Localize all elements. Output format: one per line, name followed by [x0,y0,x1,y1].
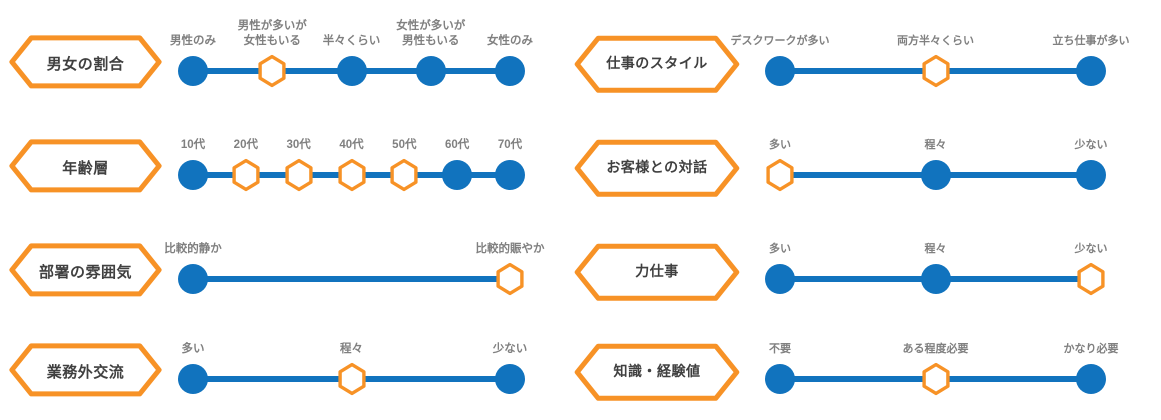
tick-label: 30代 [287,138,311,153]
marker-selected[interactable] [335,362,369,396]
marker-unselected[interactable] [335,54,369,88]
tick-label: 半々くらい [323,34,381,49]
selected-hexagon-marker[interactable] [255,54,289,88]
scale-markers: 10代20代30代40代50代60代70代 [163,112,540,216]
tick-label-line: 男性のみ [170,34,216,49]
tick-label-line: 少ない [493,342,528,357]
marker-unselected[interactable] [1074,54,1108,88]
tick-label: 20代 [234,138,258,153]
tick-label-line: 女性のみ [487,34,533,49]
marker-selected[interactable] [255,54,289,88]
category-label-3[interactable]: 業務外交流 [8,342,163,400]
category-label-text: 年齢層 [62,157,109,178]
scale-row: 業務外交流多い程々少ない [0,316,560,420]
scale-markers: 男性のみ男性が多いが女性もいる半々くらい女性が多いが男性もいる女性のみ [163,8,540,112]
dot-marker[interactable] [178,56,208,86]
category-label-text: 男女の割合 [47,53,125,74]
marker-unselected[interactable] [176,158,210,192]
tick-label: 50代 [392,138,416,153]
tick-label: 程々 [340,342,363,357]
dot-marker[interactable] [495,364,525,394]
tick-label: 多い [769,242,791,257]
tick-label-line: 少ない [1075,138,1108,153]
dot-marker[interactable] [765,56,795,86]
marker-selected[interactable] [1074,262,1108,296]
tick-label: 少ない [493,342,528,357]
tick-label: 程々 [925,242,947,257]
selected-hexagon-marker[interactable] [763,158,797,192]
marker-selected[interactable] [763,158,797,192]
tick-label-line: 70代 [498,138,522,153]
marker-unselected[interactable] [1074,362,1108,396]
tick-label: デスクワークが多い [731,34,830,49]
selected-hexagon-marker[interactable] [919,362,953,396]
tick-label: 程々 [925,138,947,153]
selected-hexagon-marker[interactable] [919,54,953,88]
tick-label: 不要 [769,342,791,357]
dot-marker[interactable] [1076,364,1106,394]
category-label-6[interactable]: 力仕事 [573,242,741,300]
scale-markers: 多い程々少ない [750,216,1121,320]
tick-label: ある程度必要 [903,342,969,357]
selected-hexagon-marker[interactable] [229,158,263,192]
scale-markers: 比較的静か比較的賑やか [163,216,540,320]
dot-marker[interactable] [337,56,367,86]
tick-label-line: 比較的賑やか [476,242,545,257]
scale-row: 力仕事多い程々少ない [560,216,1161,320]
tick-label: 70代 [498,138,522,153]
tick-label: 多い [769,138,791,153]
tick-label: 多い [182,342,205,357]
dot-marker[interactable] [921,264,951,294]
tick-label-line: 多い [182,342,205,357]
tick-label-line: 10代 [181,138,205,153]
marker-unselected[interactable] [414,54,448,88]
tick-label-line: 程々 [340,342,363,357]
scale-track: 男性のみ男性が多いが女性もいる半々くらい女性が多いが男性もいる女性のみ [163,8,540,112]
marker-unselected[interactable] [493,158,527,192]
marker-selected[interactable] [493,262,527,296]
scale-row: 男女の割合男性のみ男性が多いが女性もいる半々くらい女性が多いが男性もいる女性のみ [0,8,560,112]
selected-hexagon-marker[interactable] [387,158,421,192]
scale-track: 多い程々少ない [163,316,540,420]
marker-unselected[interactable] [763,54,797,88]
scale-row: 仕事のスタイルデスクワークが多い両方半々くらい立ち仕事が多い [560,8,1161,112]
category-label-5[interactable]: お客様との対話 [573,138,741,196]
scale-markers: 不要ある程度必要かなり必要 [750,316,1121,420]
dot-marker[interactable] [416,56,446,86]
tick-label-line: 少ない [1075,242,1108,257]
scale-row: 年齢層10代20代30代40代50代60代70代 [0,112,560,216]
dot-marker[interactable] [178,264,208,294]
tick-label: 10代 [181,138,205,153]
marker-unselected[interactable] [919,158,953,192]
tick-label-line: 女性もいる [238,34,307,49]
tick-label: 男性が多いが女性もいる [238,19,307,49]
marker-unselected[interactable] [176,262,210,296]
tick-label-line: デスクワークが多い [731,34,830,49]
marker-unselected[interactable] [1074,158,1108,192]
category-label-7[interactable]: 知識・経験値 [573,342,741,400]
scale-row: 知識・経験値不要ある程度必要かなり必要 [560,316,1161,420]
marker-unselected[interactable] [763,262,797,296]
marker-unselected[interactable] [493,54,527,88]
dot-marker[interactable] [442,160,472,190]
scale-track: 不要ある程度必要かなり必要 [750,316,1121,420]
scale-track: 比較的静か比較的賑やか [163,216,540,320]
tick-label: 少ない [1075,242,1108,257]
category-label-text: 仕事のスタイル [606,53,708,73]
tick-label-line: 程々 [925,242,947,257]
tick-label-line: 20代 [234,138,258,153]
selected-hexagon-marker[interactable] [493,262,527,296]
tick-label-line: 不要 [769,342,791,357]
tick-label: 女性のみ [487,34,533,49]
tick-label-line: 60代 [445,138,469,153]
marker-unselected[interactable] [176,54,210,88]
dot-marker[interactable] [765,264,795,294]
tick-label-line: 比較的静か [164,242,222,257]
marker-unselected[interactable] [763,362,797,396]
tick-label-line: 両方半々くらい [897,34,974,49]
category-label-2[interactable]: 部署の雰囲気 [8,242,163,300]
scale-markers: 多い程々少ない [750,112,1121,216]
tick-label-line: 30代 [287,138,311,153]
scale-track: 多い程々少ない [750,216,1121,320]
category-label-text: 部署の雰囲気 [39,261,132,282]
tick-label-line: 多い [769,242,791,257]
tick-label: 女性が多いが男性もいる [396,19,465,49]
selected-hexagon-marker[interactable] [282,158,316,192]
marker-unselected[interactable] [176,362,210,396]
marker-unselected[interactable] [493,362,527,396]
tick-label-line: 男性もいる [396,34,465,49]
marker-unselected[interactable] [919,262,953,296]
tick-label-line: 女性が多いが [396,19,465,34]
tick-label-line: かなり必要 [1064,342,1119,357]
tick-label-line: ある程度必要 [903,342,969,357]
category-label-4[interactable]: 仕事のスタイル [573,34,741,92]
tick-label-line: 40代 [339,138,363,153]
category-label-text: お客様との対話 [606,157,707,177]
selected-hexagon-marker[interactable] [1074,262,1108,296]
tick-label-line: 半々くらい [323,34,381,49]
dot-marker[interactable] [765,364,795,394]
marker-selected[interactable] [387,158,421,192]
scale-markers: デスクワークが多い両方半々くらい立ち仕事が多い [750,8,1121,112]
selected-hexagon-marker[interactable] [335,158,369,192]
tick-label: 40代 [339,138,363,153]
tick-label: 比較的賑やか [476,242,545,257]
dot-marker[interactable] [1076,56,1106,86]
tick-label-line: 立ち仕事が多い [1053,34,1130,49]
tick-label: 少ない [1075,138,1108,153]
tick-label-line: 程々 [925,138,947,153]
selected-hexagon-marker[interactable] [335,362,369,396]
scale-track: デスクワークが多い両方半々くらい立ち仕事が多い [750,8,1121,112]
tick-label-line: 男性が多いが [238,19,307,34]
category-label-text: 力仕事 [635,261,679,281]
marker-selected[interactable] [919,362,953,396]
scale-track: 10代20代30代40代50代60代70代 [163,112,540,216]
tick-label: 男性のみ [170,34,216,49]
dot-marker[interactable] [178,364,208,394]
category-label-0[interactable]: 男女の割合 [8,34,163,92]
marker-selected[interactable] [919,54,953,88]
category-label-text: 業務外交流 [47,361,125,382]
tick-label: 立ち仕事が多い [1053,34,1130,49]
dot-marker[interactable] [1076,160,1106,190]
marker-selected[interactable] [282,158,316,192]
category-label-text: 知識・経験値 [614,361,701,381]
tick-label: 比較的静か [164,242,222,257]
tick-label: 60代 [445,138,469,153]
tick-label-line: 多い [769,138,791,153]
tick-label: 両方半々くらい [897,34,974,49]
tick-label: かなり必要 [1064,342,1119,357]
tick-label-line: 50代 [392,138,416,153]
dot-marker[interactable] [495,160,525,190]
scale-markers: 多い程々少ない [163,316,540,420]
dot-marker[interactable] [495,56,525,86]
dot-marker[interactable] [921,160,951,190]
marker-selected[interactable] [335,158,369,192]
scale-chart-grid: 男女の割合男性のみ男性が多いが女性もいる半々くらい女性が多いが男性もいる女性のみ… [0,0,1161,418]
marker-unselected[interactable] [440,158,474,192]
category-label-1[interactable]: 年齢層 [8,138,163,196]
scale-row: 部署の雰囲気比較的静か比較的賑やか [0,216,560,320]
dot-marker[interactable] [178,160,208,190]
marker-selected[interactable] [229,158,263,192]
scale-row: お客様との対話多い程々少ない [560,112,1161,216]
scale-track: 多い程々少ない [750,112,1121,216]
